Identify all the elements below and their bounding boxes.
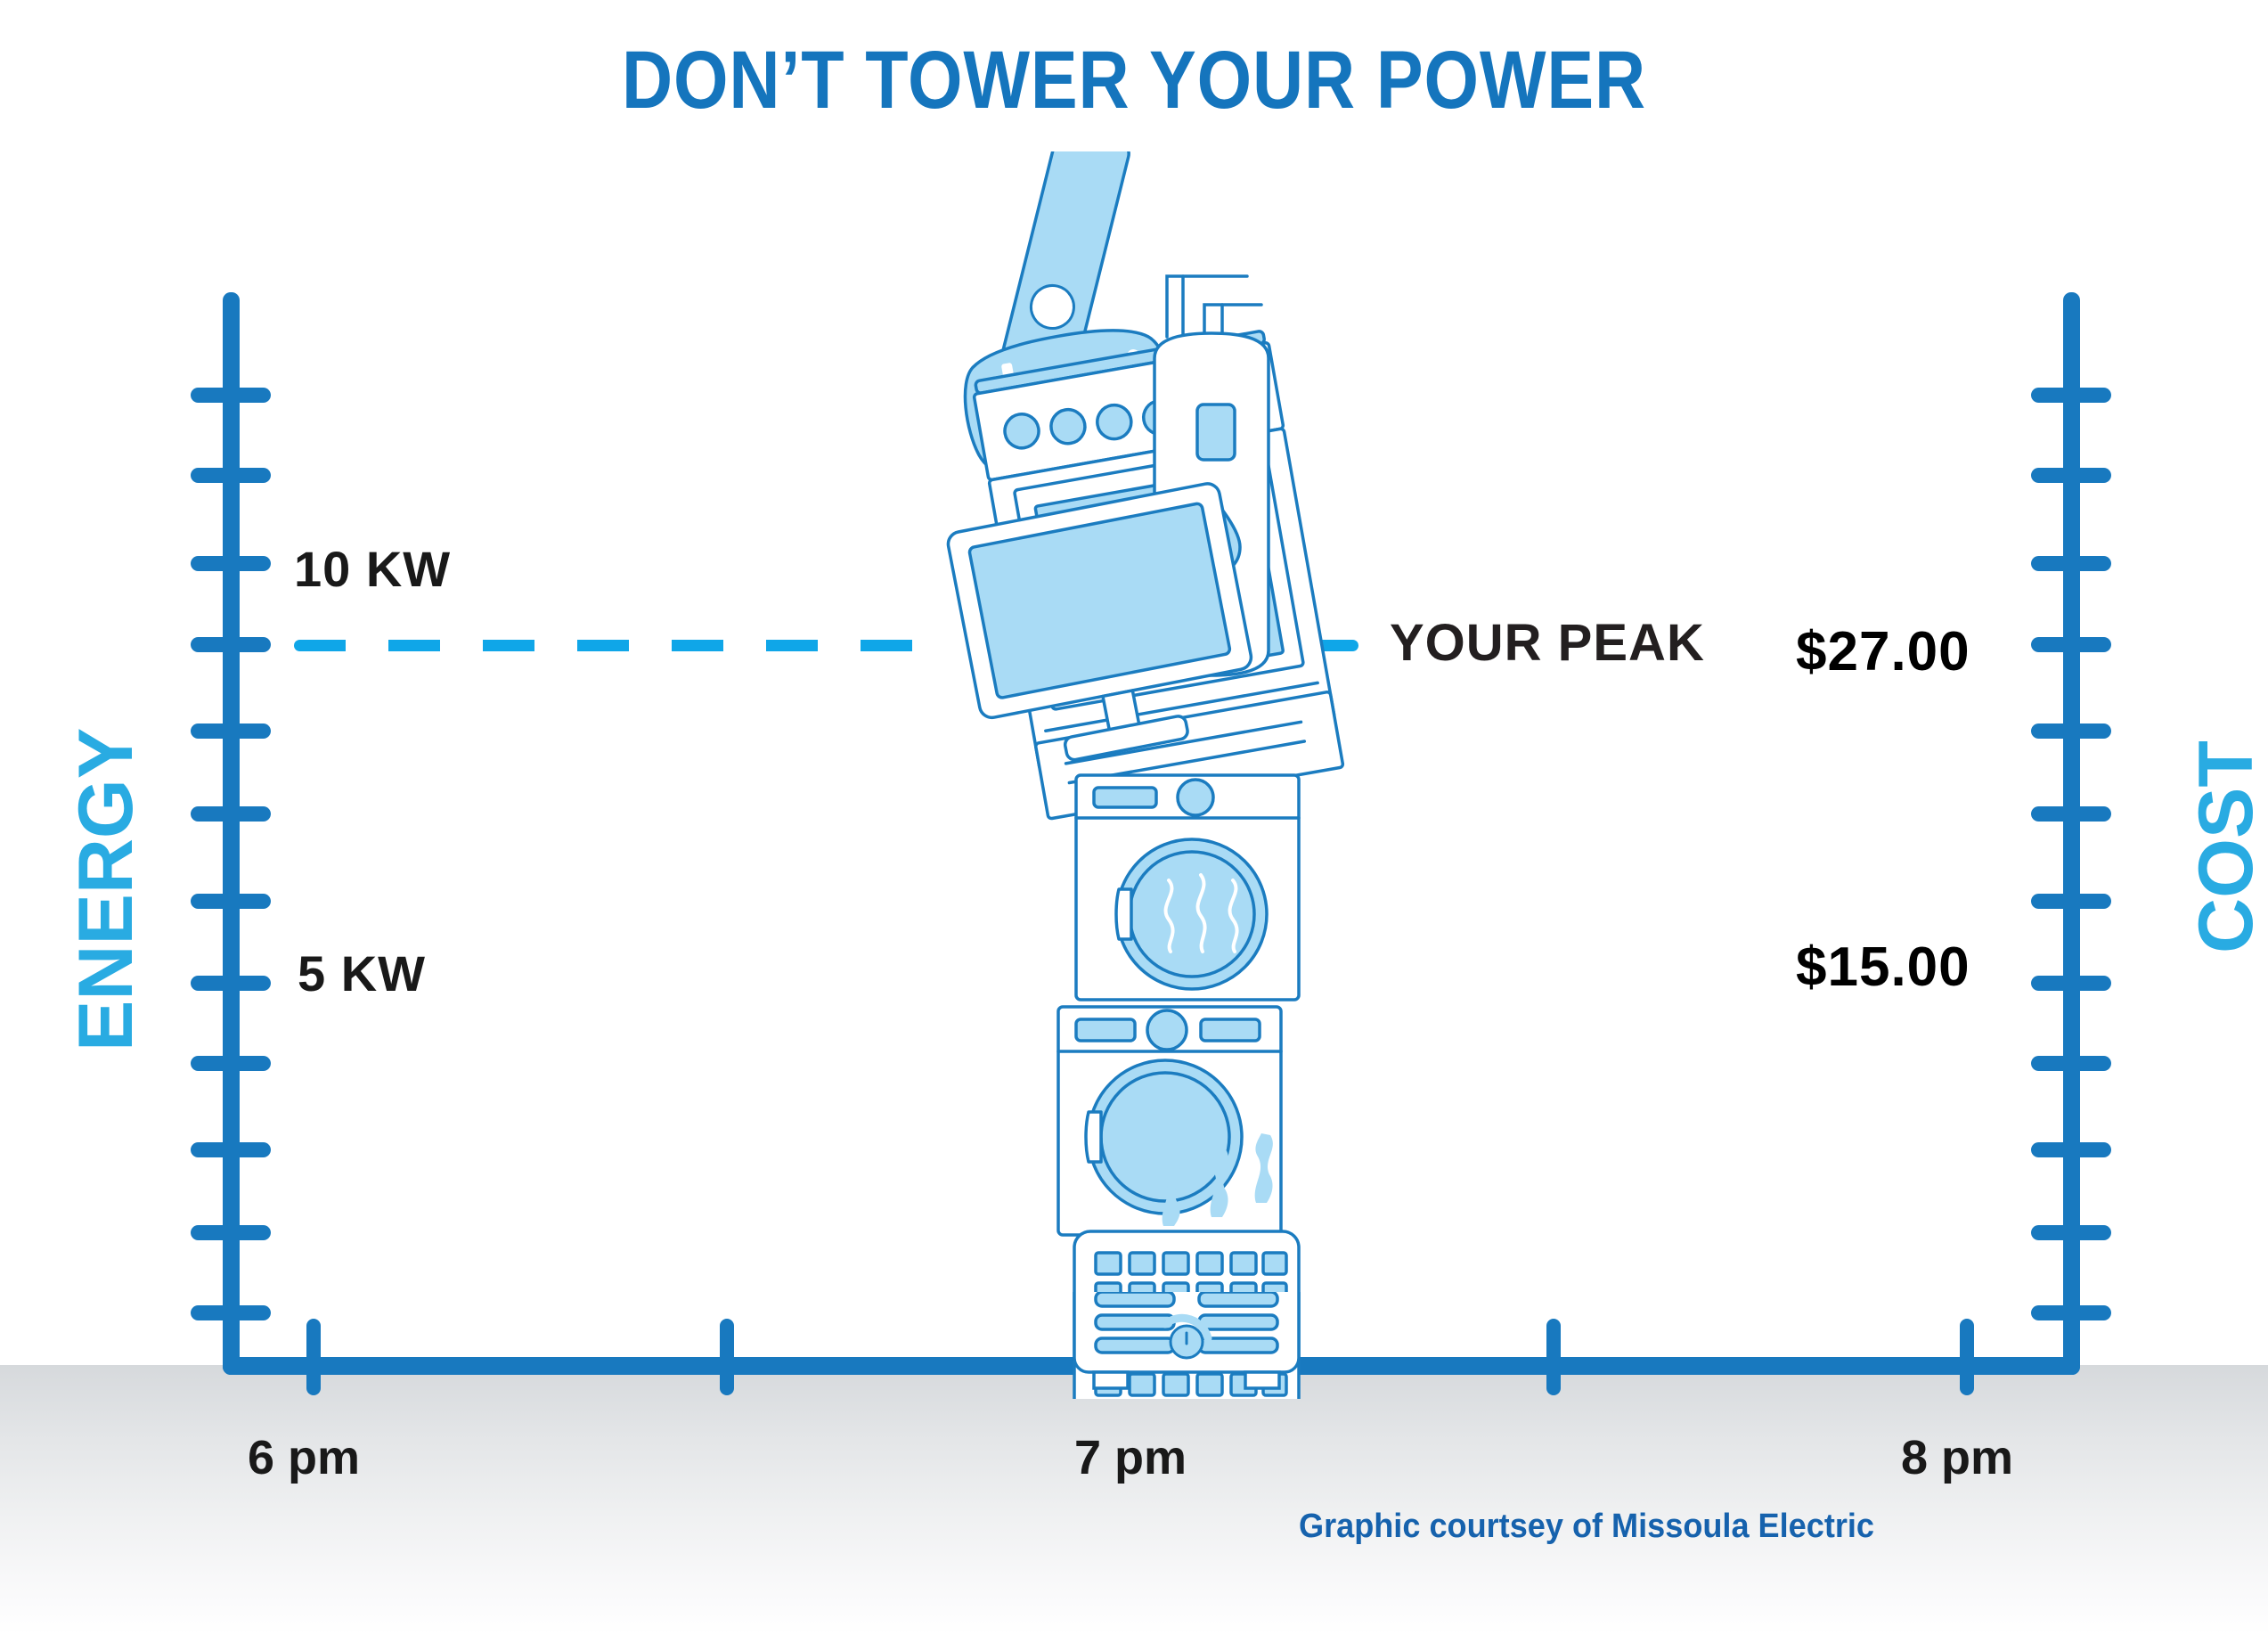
cost-label-27: $27.00 (1796, 620, 1970, 683)
x-axis-tick-8pm (1960, 1319, 1974, 1395)
credit-line: Graphic courtsey of Missoula Electric (1299, 1508, 1874, 1546)
peak-dashed-line-left (294, 640, 935, 651)
left-axis-tick (191, 894, 271, 909)
right-cost-axis-line (2063, 292, 2080, 1375)
left-axis-tick (191, 976, 271, 991)
left-axis-tick (191, 1225, 271, 1240)
space-heater-lower-illustration (944, 1292, 1425, 1470)
left-axis-tick (191, 637, 271, 652)
left-axis-tick (191, 388, 271, 403)
right-axis-tick (2031, 723, 2111, 739)
infographic-canvas: DON’T TOWER YOUR POWER ENERGY 10 KW 5 KW… (0, 0, 2268, 1635)
x-axis-label-6pm: 6 pm (248, 1430, 360, 1485)
left-axis-tick (191, 1142, 271, 1157)
left-axis-tick (191, 723, 271, 739)
left-axis-tick (191, 806, 271, 822)
right-axis-tick (2031, 388, 2111, 403)
right-axis-tick (2031, 637, 2111, 652)
page-title: DON’T TOWER YOUR POWER (159, 34, 2109, 127)
right-axis-tick (2031, 556, 2111, 571)
right-axis-tick (2031, 1305, 2111, 1320)
left-axis-tick (191, 1305, 271, 1320)
right-axis-tick (2031, 1056, 2111, 1071)
x-axis-tick-6pm (306, 1319, 321, 1395)
left-axis-tick (191, 556, 271, 571)
energy-label-5kw: 5 KW (298, 944, 426, 1002)
space-heater-base-illustration (944, 151, 1425, 1399)
right-axis-tick (2031, 806, 2111, 822)
right-axis-tick (2031, 1225, 2111, 1240)
x-axis-tick-midnight-1 (720, 1319, 734, 1395)
left-energy-axis-line (223, 292, 240, 1375)
right-axis-tick (2031, 976, 2111, 991)
right-axis-tick (2031, 468, 2111, 483)
right-axis-title: COST (2182, 740, 2268, 953)
left-axis-tick (191, 1056, 271, 1071)
left-axis-tick (191, 468, 271, 483)
x-axis-label-8pm: 8 pm (1901, 1430, 2013, 1485)
peak-legend-label: YOUR PEAK (1390, 613, 1705, 673)
left-axis-title: ENERGY (62, 728, 151, 1051)
right-axis-tick (2031, 894, 2111, 909)
cost-label-15: $15.00 (1796, 936, 1970, 999)
energy-label-10kw: 10 KW (294, 540, 451, 598)
x-axis-tick-midnight-2 (1546, 1319, 1561, 1395)
right-axis-tick (2031, 1142, 2111, 1157)
